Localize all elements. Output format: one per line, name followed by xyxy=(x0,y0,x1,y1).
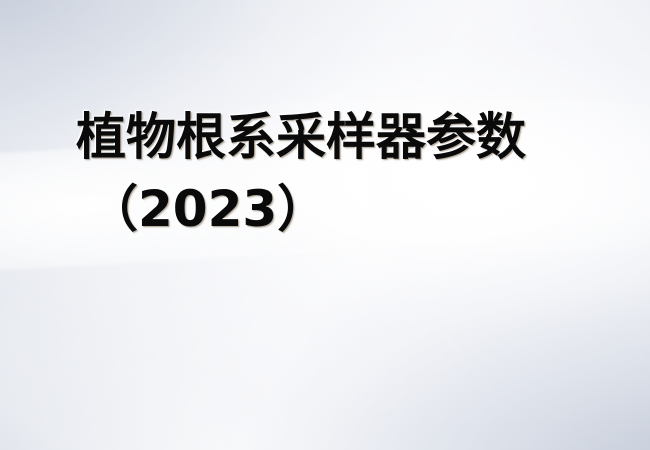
title-slide: 植物根系采样器参数 （2023） xyxy=(0,0,650,450)
slide-title-line-1: 植物根系采样器参数 xyxy=(76,112,650,162)
slide-title-block: 植物根系采样器参数 （2023） xyxy=(0,112,650,234)
slide-title-line-2: （2023） xyxy=(88,184,650,234)
